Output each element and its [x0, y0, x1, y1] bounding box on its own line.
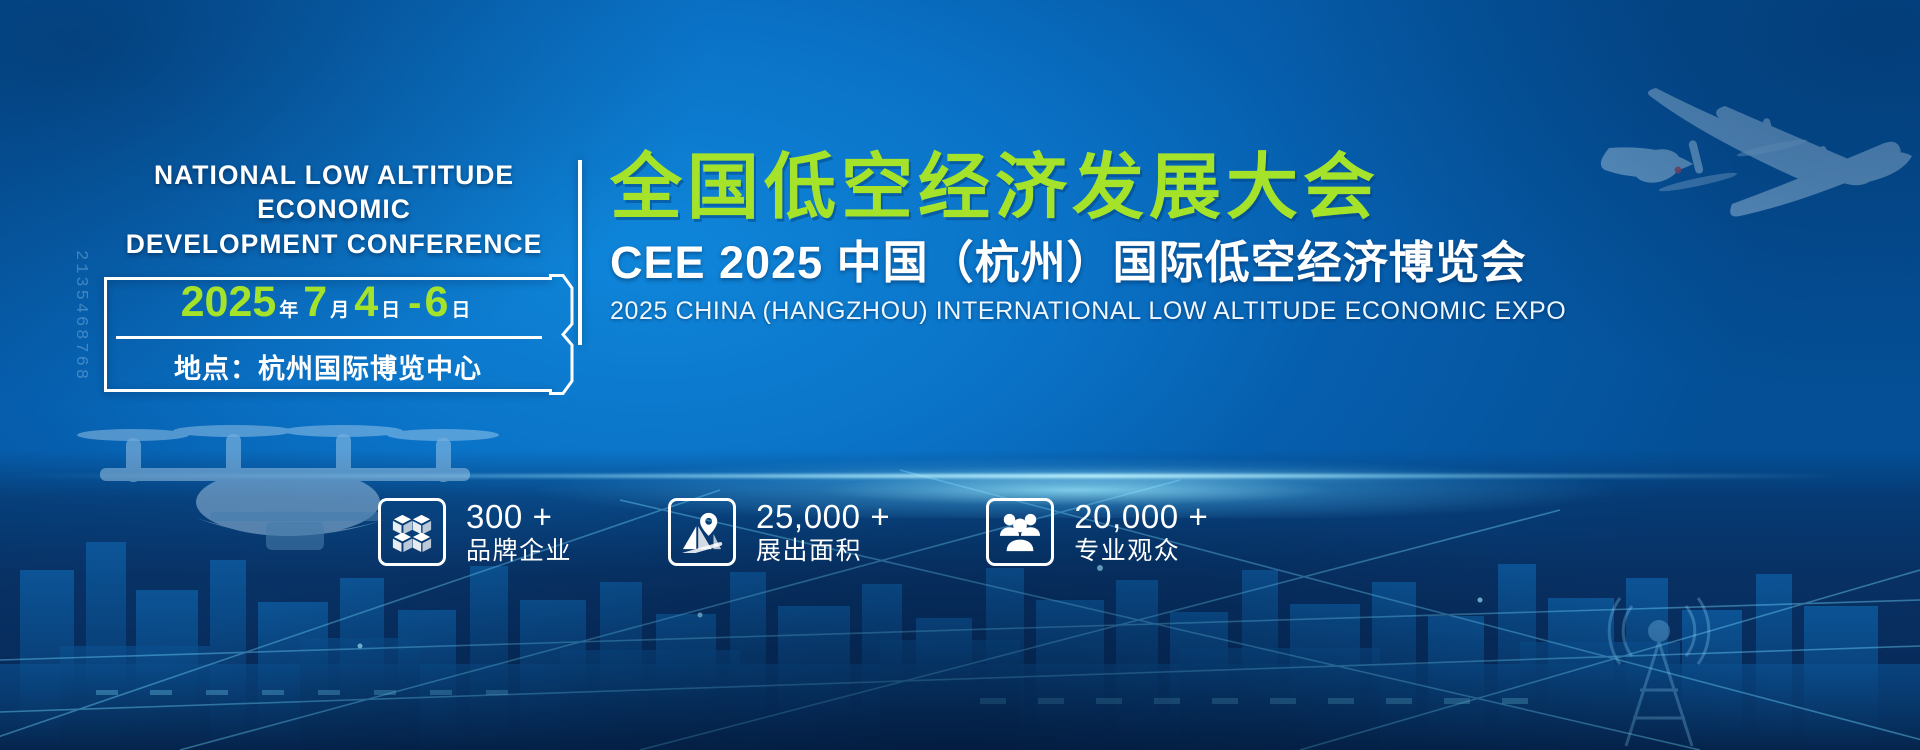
- event-banner: 2135468768 NATIONAL LOW ALTITUDE ECONOMI…: [0, 0, 1920, 750]
- vertical-divider: [578, 160, 582, 345]
- decorative-number-strip: 2135468768: [56, 250, 90, 490]
- date-range-dash: -: [408, 283, 421, 323]
- english-subtitle: 2025 CHINA (HANGZHOU) INTERNATIONAL LOW …: [610, 298, 1566, 326]
- radio-tower-icon: [1574, 560, 1744, 750]
- stat-label-area: 展出面积: [756, 536, 890, 566]
- right-title-block: 全国低空经济发展大会 CEE 2025 中国（杭州）国际低空经济博览会 2025…: [610, 150, 1566, 326]
- date-day-end-unit: 日: [451, 301, 470, 320]
- chinese-subtitle: CEE 2025 中国（杭州）国际低空经济博览会: [610, 238, 1566, 288]
- badge-divider-rule: [116, 336, 542, 339]
- date-year-unit: 年: [279, 301, 298, 320]
- stat-number-brands: 300 +: [466, 498, 572, 536]
- stat-item-visitors: 20,000 + 专业观众: [986, 498, 1208, 566]
- stats-row: 300 + 品牌企业 25,000 + 展出面积: [378, 498, 1208, 566]
- english-title-line-2: DEVELOPMENT CONFERENCE: [104, 227, 564, 261]
- stat-number-area: 25,000 +: [756, 498, 890, 536]
- stat-text-brands: 300 + 品牌企业: [466, 498, 572, 566]
- english-title-line-1: NATIONAL LOW ALTITUDE ECONOMIC: [104, 158, 564, 227]
- date-day-start: 4: [354, 281, 378, 324]
- date-venue-badge: 2025 年 7 月 4 日 - 6 日 地点：杭州国际博览中心: [104, 277, 552, 392]
- english-conference-title: NATIONAL LOW ALTITUDE ECONOMIC DEVELOPME…: [104, 158, 564, 261]
- stat-text-visitors: 20,000 + 专业观众: [1074, 498, 1208, 566]
- stat-label-visitors: 专业观众: [1074, 536, 1208, 566]
- cubes-icon: [378, 498, 446, 566]
- map-pin-icon: [668, 498, 736, 566]
- stat-label-brands: 品牌企业: [466, 536, 572, 566]
- date-day-start-unit: 日: [381, 301, 400, 320]
- date-year: 2025: [181, 281, 277, 324]
- left-title-block: NATIONAL LOW ALTITUDE ECONOMIC DEVELOPME…: [104, 158, 564, 392]
- event-date-row: 2025 年 7 月 4 日 - 6 日: [104, 281, 552, 335]
- stat-text-area: 25,000 + 展出面积: [756, 498, 890, 566]
- date-month-unit: 月: [330, 301, 349, 320]
- venue-text: 地点：杭州国际博览中心: [104, 343, 552, 389]
- people-icon: [986, 498, 1054, 566]
- badge-notch: [549, 274, 574, 395]
- stat-item-brands: 300 + 品牌企业: [378, 498, 572, 566]
- fixed-wing-vtol-drone-icon: [1560, 48, 1920, 218]
- date-day-end: 6: [424, 281, 448, 324]
- main-chinese-title: 全国低空经济发展大会: [610, 150, 1566, 228]
- stat-number-visitors: 20,000 +: [1074, 498, 1208, 536]
- stat-item-area: 25,000 + 展出面积: [668, 498, 890, 566]
- date-month: 7: [303, 281, 327, 324]
